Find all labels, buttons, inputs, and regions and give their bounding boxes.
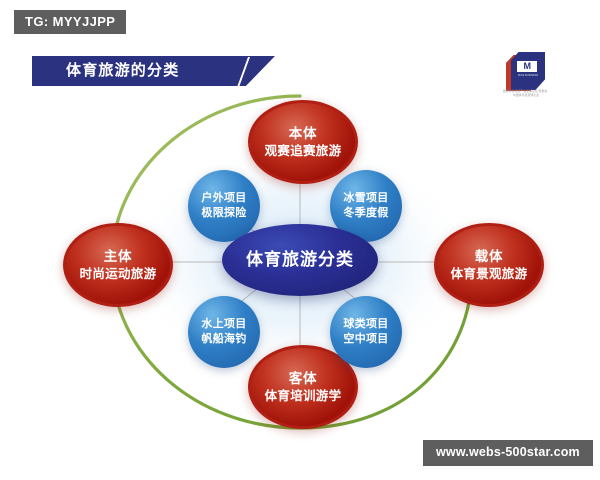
red-node-left[interactable]: 主体 时尚运动旅游 (63, 223, 173, 307)
red-node-left-line1: 主体 (104, 249, 133, 265)
blue-node-top-left-line2: 极限探险 (201, 207, 246, 220)
organization-logo: M MICE BUSINESS (506, 52, 546, 94)
hub-label: 体育旅游分类 (246, 250, 354, 270)
blue-node-bottom-right-line2: 空中项目 (343, 333, 388, 346)
blue-node-bottom-right-line1: 球类项目 (343, 318, 388, 331)
title-banner: 体育旅游的分类 (32, 56, 275, 86)
logo-caption: 国际体育旅游产业发展论坛 组委会 · 中国体育旅游博览会 (502, 90, 550, 97)
footer-url-watermark: www.webs-500star.com (423, 440, 593, 466)
blue-node-bottom-left-line2: 帆船海钓 (201, 333, 246, 346)
red-node-top-line1: 本体 (289, 126, 318, 142)
red-node-right-line2: 体育景观旅游 (451, 267, 528, 282)
blue-node-bottom-left[interactable]: 水上项目 帆船海钓 (188, 296, 260, 368)
blue-node-bottom-right[interactable]: 球类项目 空中项目 (330, 296, 402, 368)
red-node-right[interactable]: 载体 体育景观旅游 (434, 223, 544, 307)
blue-node-top-right-line1: 冰雪项目 (343, 192, 388, 205)
slide-canvas: 体育旅游分类 本体 观赛追赛旅游 载体 体育景观旅游 客体 体育培训游学 主体 … (0, 0, 600, 480)
blue-node-top-right-line2: 冬季度假 (343, 207, 388, 220)
blue-node-bottom-left-line1: 水上项目 (201, 318, 246, 331)
red-node-bottom-line1: 客体 (289, 371, 318, 387)
red-node-right-line1: 载体 (475, 249, 504, 265)
red-node-bottom-line2: 体育培训游学 (265, 389, 342, 404)
blue-node-top-left-line1: 户外项目 (201, 192, 246, 205)
logo-mark-text: M (517, 61, 537, 72)
blue-node-top-left[interactable]: 户外项目 极限探险 (188, 170, 260, 242)
page-title: 体育旅游的分类 (66, 61, 179, 81)
logo-sub-text: MICE BUSINESS (513, 74, 543, 77)
red-node-top[interactable]: 本体 观赛追赛旅游 (248, 100, 358, 184)
red-node-left-line2: 时尚运动旅游 (80, 267, 157, 282)
tg-watermark: TG: MYYJJPP (14, 10, 126, 34)
red-node-top-line2: 观赛追赛旅游 (265, 144, 342, 159)
hub-node[interactable]: 体育旅游分类 (222, 224, 378, 296)
